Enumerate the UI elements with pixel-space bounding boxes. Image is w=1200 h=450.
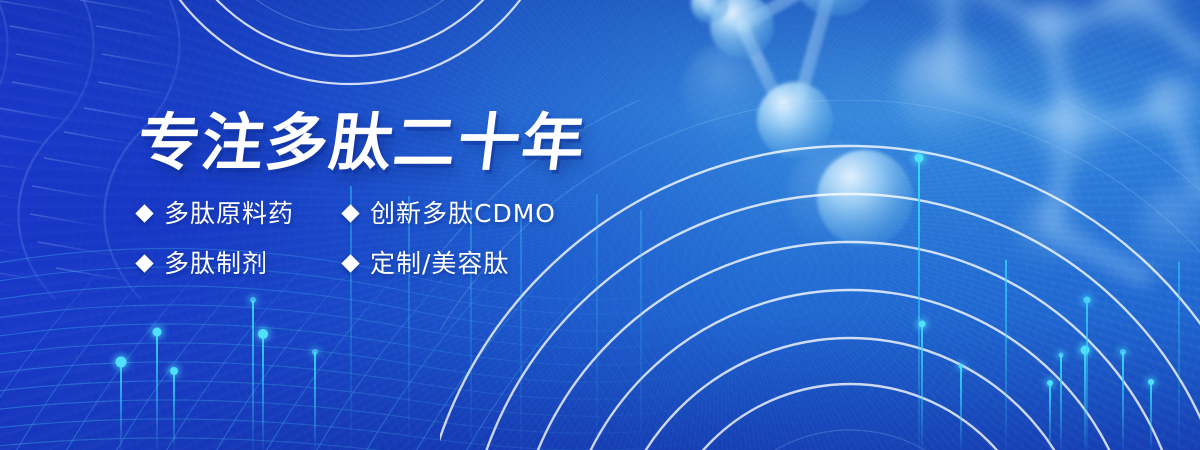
banner-headline: 专注多肽二十年 bbox=[134, 112, 702, 174]
feature-label: 创新多肽CDMO bbox=[370, 200, 556, 228]
feature-item-peptide-cdmo: 创新多肽CDMO bbox=[344, 200, 698, 228]
cyan-stem bbox=[1005, 260, 1007, 450]
cyan-stem bbox=[1150, 382, 1152, 450]
cyan-stem bbox=[120, 362, 122, 450]
banner-content: 专注多肽二十年 多肽原料药 创新多肽CDMO 多肽制剂 定制/美容肽 bbox=[138, 112, 698, 277]
cyan-stem bbox=[252, 300, 254, 450]
feature-list: 多肽原料药 创新多肽CDMO 多肽制剂 定制/美容肽 bbox=[138, 200, 698, 277]
cyan-stem bbox=[1086, 300, 1088, 450]
feature-label: 多肽原料药 bbox=[164, 200, 294, 228]
cyan-stem bbox=[1060, 355, 1062, 450]
cyan-stem bbox=[1122, 352, 1124, 450]
cyan-stem bbox=[173, 371, 175, 450]
feature-item-peptide-api: 多肽原料药 bbox=[138, 200, 338, 228]
cyan-stem bbox=[262, 334, 264, 450]
feature-item-peptide-formulation: 多肽制剂 bbox=[138, 250, 338, 278]
cyan-stem bbox=[960, 366, 962, 450]
diamond-icon bbox=[341, 205, 359, 223]
cyan-stem bbox=[314, 352, 316, 450]
cyan-stem bbox=[156, 332, 158, 450]
cyan-stem bbox=[1049, 383, 1051, 450]
cyan-stem bbox=[921, 324, 923, 450]
cyan-stem bbox=[1178, 262, 1180, 450]
feature-label: 定制/美容肽 bbox=[370, 250, 509, 278]
hero-banner: 专注多肽二十年 多肽原料药 创新多肽CDMO 多肽制剂 定制/美容肽 bbox=[0, 0, 1200, 450]
feature-item-custom-cosmetic-peptide: 定制/美容肽 bbox=[344, 250, 698, 278]
diamond-icon bbox=[135, 205, 153, 223]
diamond-icon bbox=[341, 254, 359, 272]
cyan-stem bbox=[918, 158, 920, 450]
diamond-icon bbox=[135, 254, 153, 272]
feature-label: 多肽制剂 bbox=[164, 250, 268, 278]
